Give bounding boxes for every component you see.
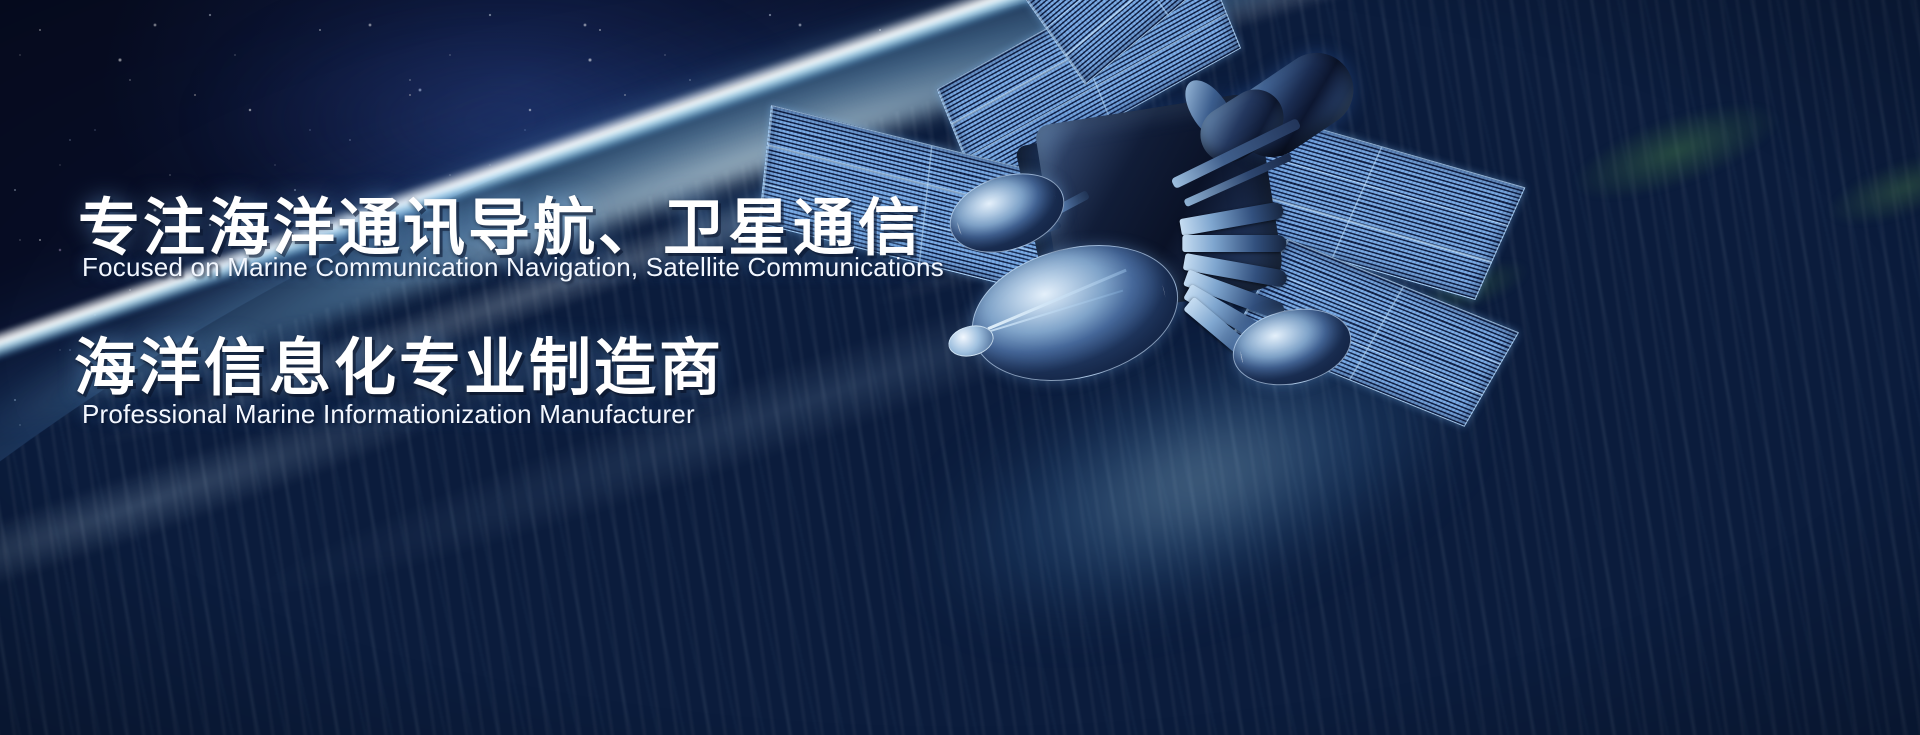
subtitle-primary: Focused on Marine Communication Navigati… (82, 252, 944, 283)
headline-secondary: 海洋信息化专业制造商 (74, 336, 724, 403)
subtitle-secondary: Professional Marine Informationization M… (82, 399, 695, 430)
hero-banner: 专注海洋通讯导航、卫星通信 Focused on Marine Communic… (0, 0, 1920, 735)
banner-text-block: 专注海洋通讯导航、卫星通信 Focused on Marine Communic… (0, 0, 1920, 735)
